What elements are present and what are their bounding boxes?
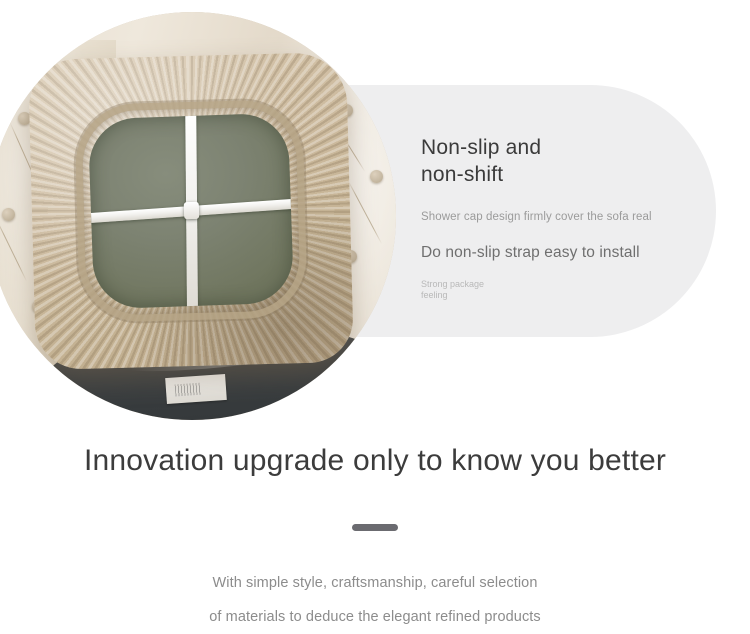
- bottom-headline: Innovation upgrade only to know you bett…: [0, 441, 750, 481]
- divider-dash: [352, 524, 398, 531]
- feature-note: Strong package feeling: [421, 279, 711, 301]
- product-feature-banner: Non-slip and non-shift Shower cap design…: [0, 0, 750, 634]
- sofa-tuft-button: [374, 312, 387, 325]
- photo-scene: [0, 12, 396, 420]
- bottom-subcopy-line-2: of materials to deduce the elegant refin…: [0, 600, 750, 634]
- inner-seat-panel: [88, 113, 295, 310]
- feature-copy-block: Non-slip and non-shift Shower cap design…: [421, 134, 711, 301]
- strap-buckle: [184, 202, 200, 220]
- product-hang-tag: [165, 374, 227, 404]
- feature-subtitle: Shower cap design firmly cover the sofa …: [421, 211, 711, 223]
- sofa-cushion-cover-photo: [0, 12, 396, 420]
- sofa-tuft-button: [370, 170, 383, 183]
- bottom-subcopy-line-1: With simple style, craftsmanship, carefu…: [0, 566, 750, 600]
- cushion-cover: [28, 52, 354, 370]
- bottom-subcopy: With simple style, craftsmanship, carefu…: [0, 566, 750, 634]
- feature-line: Do non-slip strap easy to install: [421, 244, 711, 262]
- sofa-tuft-button: [2, 208, 15, 221]
- feature-heading: Non-slip and non-shift: [421, 134, 711, 188]
